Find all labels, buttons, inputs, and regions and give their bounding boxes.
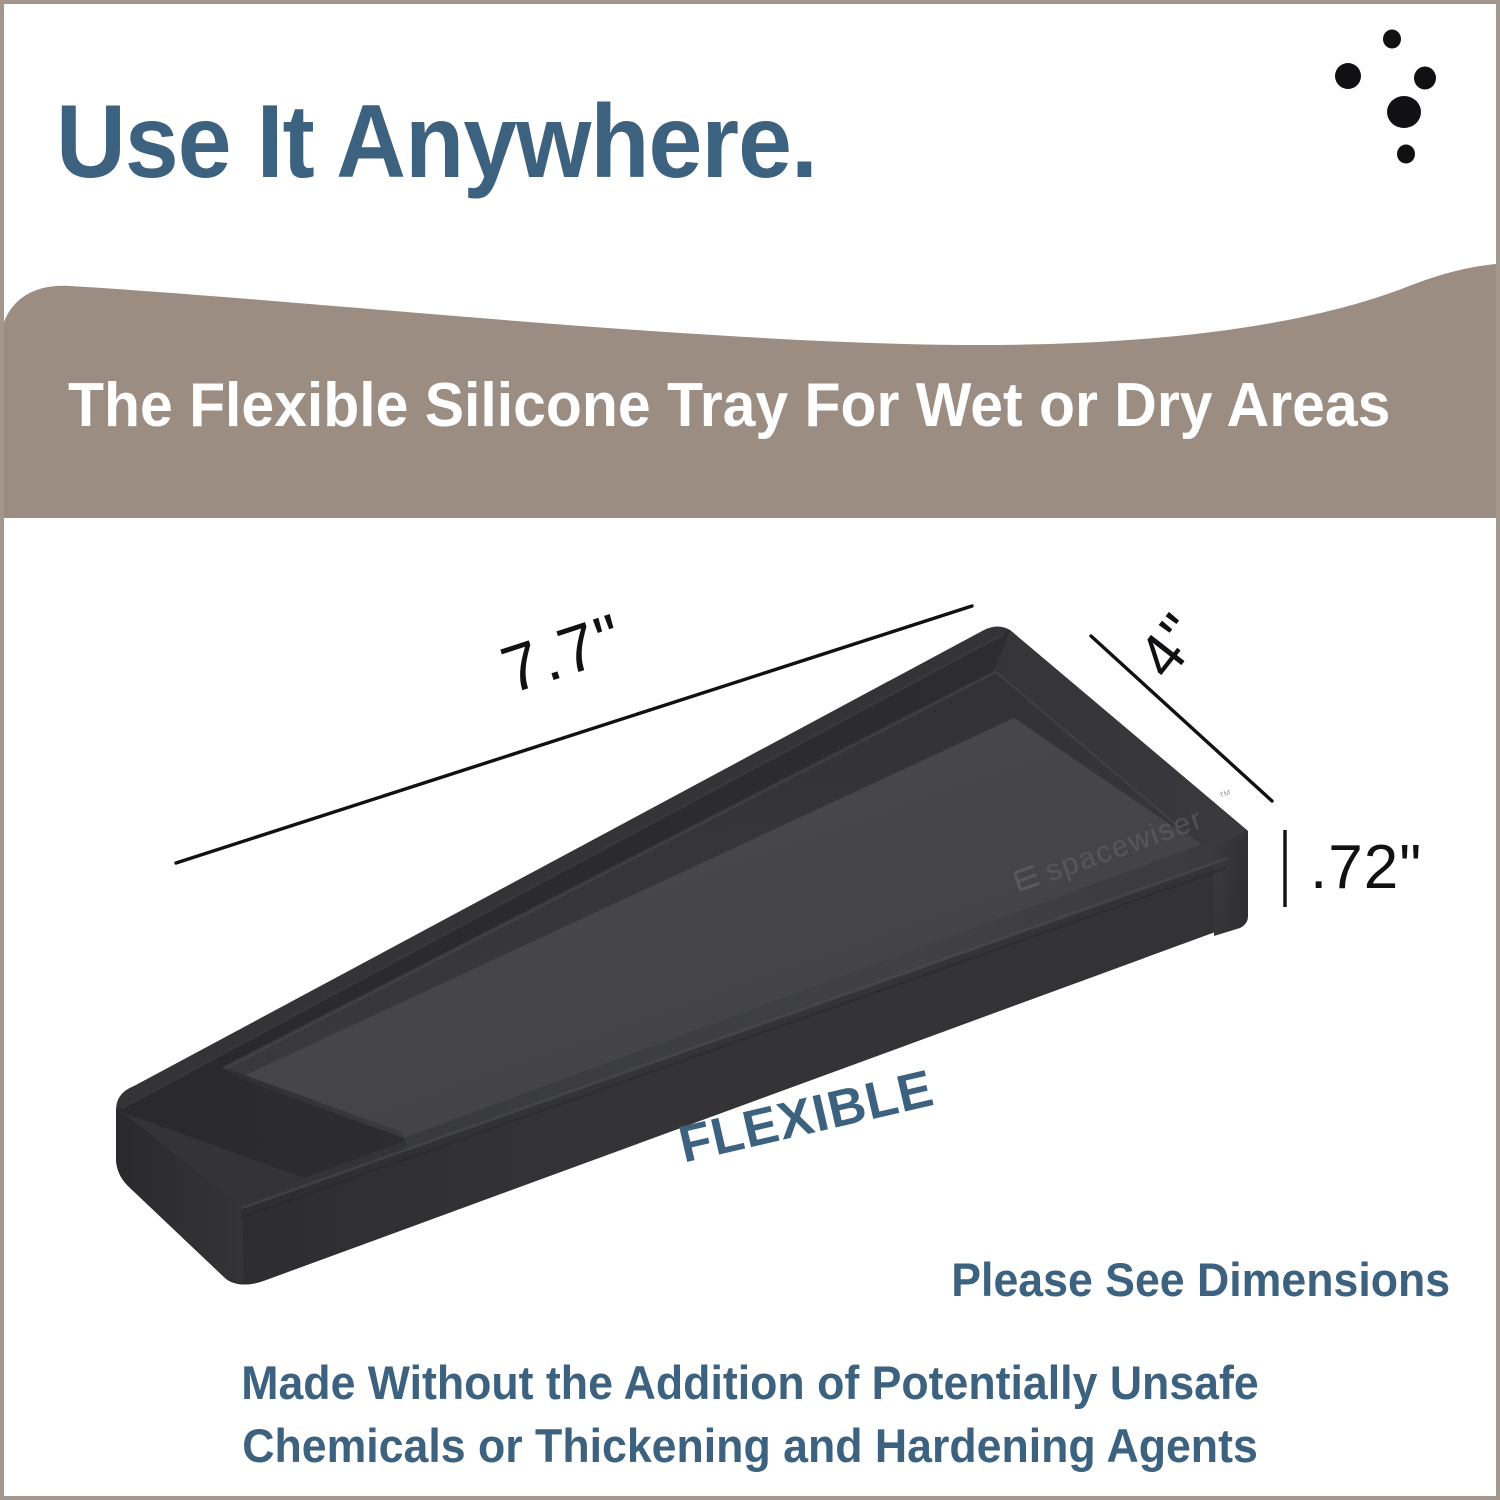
product-image: spacewiser ™ bbox=[4, 518, 1496, 1308]
safety-claim-line-2: Chemicals or Thickening and Hardening Ag… bbox=[41, 1415, 1458, 1478]
tray-right-face bbox=[1214, 831, 1248, 936]
decorative-dots bbox=[1324, 14, 1496, 194]
dot-icon bbox=[1414, 67, 1436, 90]
dot-icon bbox=[1383, 30, 1401, 49]
dot-icon bbox=[1397, 145, 1415, 164]
subtitle-banner: The Flexible Silicone Tray For Wet or Dr… bbox=[4, 262, 1496, 518]
safety-claim-line-1: Made Without the Addition of Potentially… bbox=[41, 1352, 1458, 1415]
dot-icon bbox=[1387, 96, 1421, 128]
dot-icon bbox=[1335, 63, 1361, 89]
product-infographic: Use It Anywhere. The Flexible Silicone T… bbox=[0, 0, 1500, 1500]
page-title: Use It Anywhere. bbox=[56, 90, 817, 194]
dimension-label-height: .72" bbox=[1310, 832, 1422, 903]
banner-subtitle: The Flexible Silicone Tray For Wet or Dr… bbox=[68, 370, 1379, 441]
infographic-canvas: Use It Anywhere. The Flexible Silicone T… bbox=[4, 4, 1496, 1496]
brand-trademark: ™ bbox=[1217, 786, 1234, 804]
see-dimensions-note: Please See Dimensions bbox=[951, 1252, 1450, 1307]
safety-claim: Made Without the Addition of Potentially… bbox=[4, 1352, 1496, 1477]
